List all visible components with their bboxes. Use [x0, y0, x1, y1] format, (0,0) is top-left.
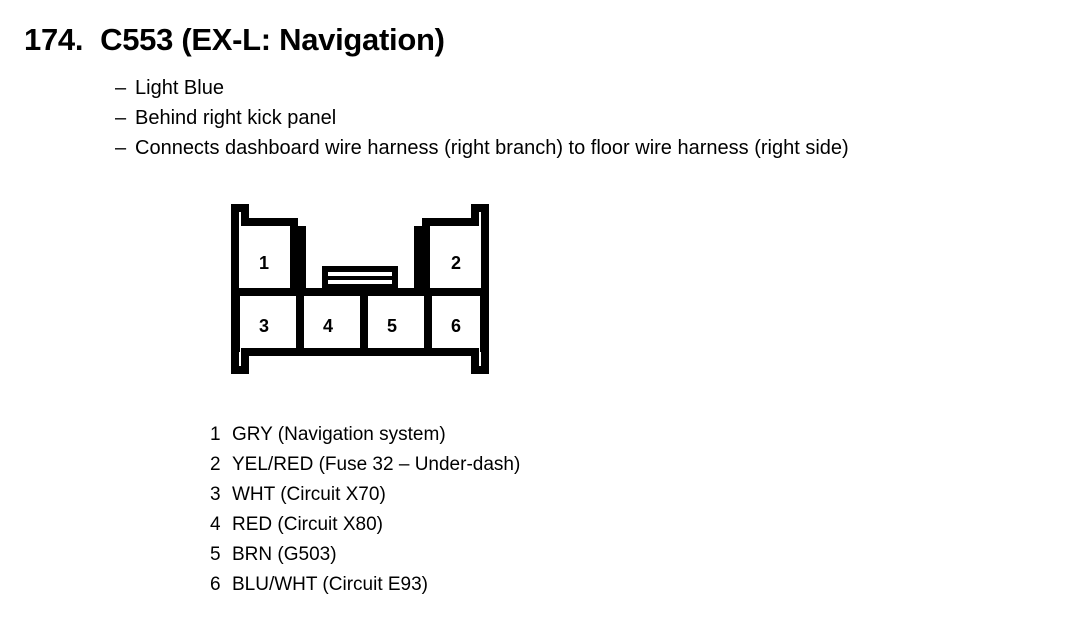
cavity-label-2: 2	[444, 253, 468, 274]
cavity-2-wall-left	[422, 226, 430, 296]
connector-diagram: 1 2 3 4 5 6	[228, 201, 492, 377]
header-item-number: 174.	[24, 22, 83, 58]
legend-pin-description: BLU/WHT (Circuit E93)	[232, 570, 428, 600]
description-item: – Behind right kick panel	[115, 103, 849, 133]
legend-pin-number: 2	[210, 450, 232, 480]
cavity-label-4: 4	[316, 316, 340, 337]
bullet-dash-icon: –	[115, 133, 135, 163]
description-text: Connects dashboard wire harness (right b…	[135, 133, 849, 163]
legend-row: 3 WHT (Circuit X70)	[210, 480, 520, 510]
cavity-label-3: 3	[252, 316, 276, 337]
page-title: C553 (EX-L: Navigation)	[100, 22, 444, 58]
cavity-label-6: 6	[444, 316, 468, 337]
legend-pin-description: WHT (Circuit X70)	[232, 480, 386, 510]
legend-row: 5 BRN (G503)	[210, 540, 520, 570]
pin-legend: 1 GRY (Navigation system) 2 YEL/RED (Fus…	[210, 420, 520, 600]
legend-pin-description: GRY (Navigation system)	[232, 420, 446, 450]
legend-row: 2 YEL/RED (Fuse 32 – Under-dash)	[210, 450, 520, 480]
legend-pin-description: YEL/RED (Fuse 32 – Under-dash)	[232, 450, 520, 480]
description-text: Behind right kick panel	[135, 103, 336, 133]
legend-pin-number: 5	[210, 540, 232, 570]
connector-outline-svg	[228, 201, 492, 377]
legend-row: 6 BLU/WHT (Circuit E93)	[210, 570, 520, 600]
legend-pin-number: 4	[210, 510, 232, 540]
legend-row: 1 GRY (Navigation system)	[210, 420, 520, 450]
legend-pin-number: 3	[210, 480, 232, 510]
cavity-divider-5-6	[424, 292, 432, 352]
legend-pin-description: BRN (G503)	[232, 540, 337, 570]
bullet-dash-icon: –	[115, 103, 135, 133]
cavity-1-wall-right	[290, 226, 298, 296]
cavity-divider-3-4	[296, 292, 304, 352]
bottom-row-left-wall	[232, 292, 240, 352]
bottom-row-right-wall	[480, 292, 488, 352]
cavity-label-1: 1	[252, 253, 276, 274]
description-text: Light Blue	[135, 73, 224, 103]
legend-pin-number: 6	[210, 570, 232, 600]
page-header: 174. C553 (EX-L: Navigation)	[24, 22, 445, 58]
legend-row: 4 RED (Circuit X80)	[210, 510, 520, 540]
bullet-dash-icon: –	[115, 73, 135, 103]
locking-tab-icon	[322, 266, 398, 292]
legend-pin-number: 1	[210, 420, 232, 450]
cavity-label-5: 5	[380, 316, 404, 337]
description-item: – Connects dashboard wire harness (right…	[115, 133, 849, 163]
description-list: – Light Blue – Behind right kick panel –…	[115, 73, 849, 163]
cavity-divider-4-5	[360, 292, 368, 352]
description-item: – Light Blue	[115, 73, 849, 103]
legend-pin-description: RED (Circuit X80)	[232, 510, 383, 540]
connector-reference-page: { "header": { "number": "174.", "title":…	[0, 0, 1072, 622]
